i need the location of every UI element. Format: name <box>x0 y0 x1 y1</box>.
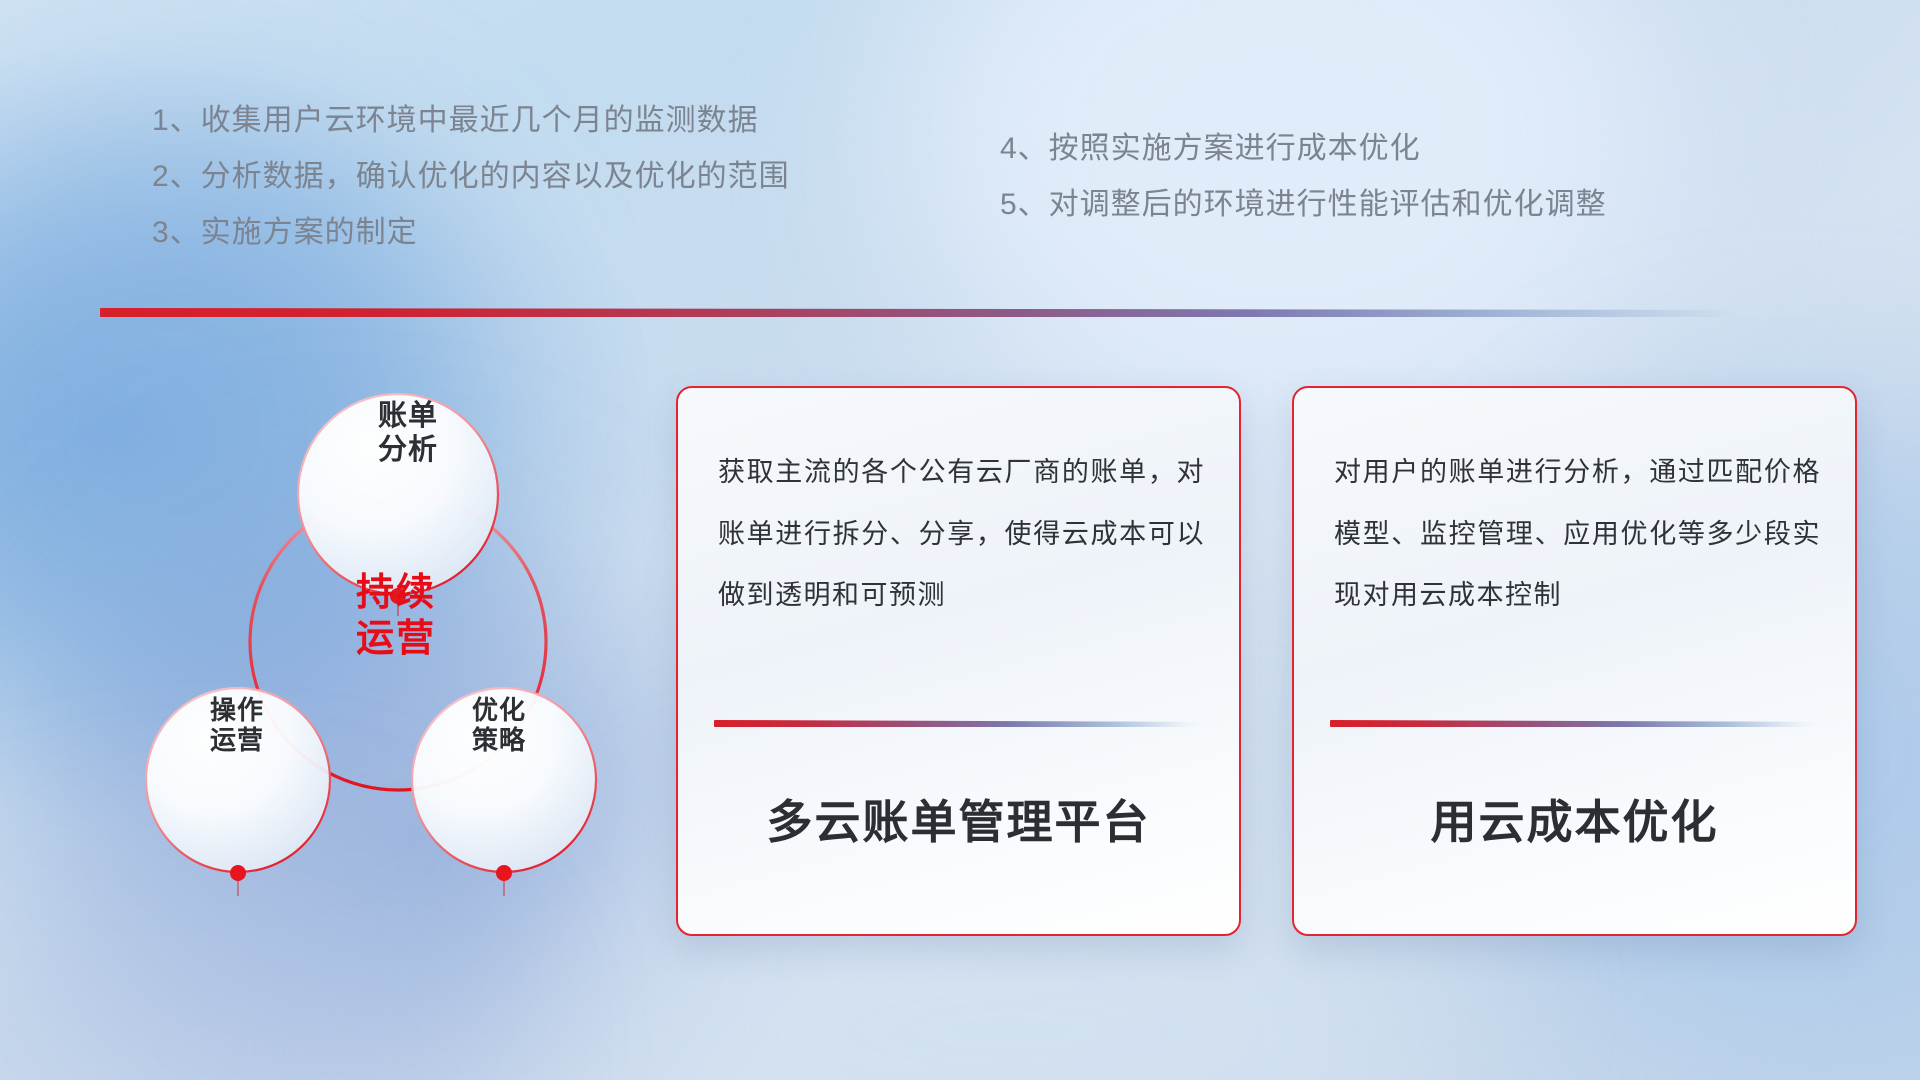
card-divider <box>1330 720 1821 727</box>
step-item-5: 5、对调整后的环境进行性能评估和优化调整 <box>1000 190 1607 220</box>
node-dot-right <box>496 865 512 881</box>
card-title: 多云账单管理平台 <box>678 786 1239 852</box>
steps-list: 1、收集用户云环境中最近几个月的监测数据 2、分析数据，确认优化的内容以及优化的… <box>0 104 1920 264</box>
card-body-text: 对用户的账单进行分析，通过匹配价格模型、监控管理、应用优化等多少段实现对用云成本… <box>1334 442 1821 627</box>
header-divider-bar <box>100 308 1845 317</box>
card-body-text: 获取主流的各个公有云厂商的账单，对账单进行拆分、分享，使得云成本可以做到透明和可… <box>718 442 1205 627</box>
step-item-3: 3、实施方案的制定 <box>152 218 418 248</box>
bubble-operations <box>146 688 330 872</box>
node-dot-left <box>230 865 246 881</box>
card-title: 用云成本优化 <box>1294 786 1855 852</box>
step-item-4: 4、按照实施方案进行成本优化 <box>1000 134 1421 164</box>
card-multi-cloud-billing-platform[interactable]: 获取主流的各个公有云厂商的账单，对账单进行拆分、分享，使得云成本可以做到透明和可… <box>676 386 1241 936</box>
step-item-2: 2、分析数据，确认优化的内容以及优化的范围 <box>152 162 790 192</box>
card-cloud-cost-optimization[interactable]: 对用户的账单进行分析，通过匹配价格模型、监控管理、应用优化等多少段实现对用云成本… <box>1292 386 1857 936</box>
continuous-operation-diagram: 账单 分析 操作 运营 优化 策略 持续 运营 <box>96 340 656 960</box>
diagram-svg <box>96 340 656 960</box>
step-item-1: 1、收集用户云环境中最近几个月的监测数据 <box>152 106 759 136</box>
slide-canvas: 1、收集用户云环境中最近几个月的监测数据 2、分析数据，确认优化的内容以及优化的… <box>0 0 1920 1080</box>
header-divider <box>100 308 1845 317</box>
card-divider <box>714 720 1205 727</box>
node-dot-top <box>390 588 406 604</box>
bubble-optimization-strategy <box>412 688 596 872</box>
bubble-billing-analysis <box>298 394 498 594</box>
